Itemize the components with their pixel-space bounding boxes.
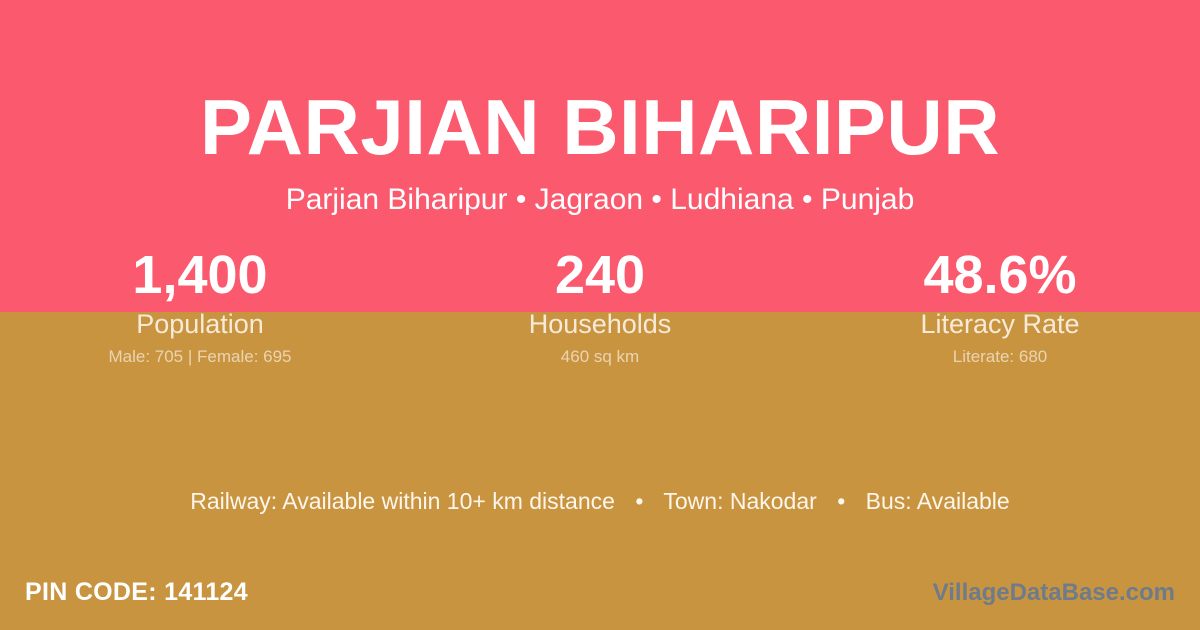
amenity-town: Town: Nakodar [663, 488, 816, 514]
site-brand: VillageDataBase.com [933, 578, 1175, 608]
stats-row: 1,400 Population Male: 705 | Female: 695… [0, 243, 1200, 368]
households-value: 240 [400, 243, 800, 307]
amenity-bus: Bus: Available [866, 488, 1010, 514]
amenity-separator-1: • [621, 488, 657, 514]
card-content-layer: PARJIAN BIHARIPUR Parjian Biharipur • Ja… [0, 0, 1200, 630]
amenity-separator-2: • [823, 488, 859, 514]
literacy-rate-label: Literacy Rate [800, 307, 1200, 341]
stat-households: 240 Households 460 sq km [400, 243, 800, 368]
location-breadcrumb: Parjian Biharipur • Jagraon • Ludhiana •… [0, 181, 1200, 219]
area-value: 460 sq km [400, 346, 800, 368]
households-label: Households [400, 307, 800, 341]
population-breakdown: Male: 705 | Female: 695 [0, 346, 400, 368]
stat-population: 1,400 Population Male: 705 | Female: 695 [0, 243, 400, 368]
pin-code: PIN CODE: 141124 [25, 576, 248, 608]
population-label: Population [0, 307, 400, 341]
amenities-line: Railway: Available within 10+ km distanc… [0, 486, 1200, 516]
stat-literacy-rate: 48.6% Literacy Rate Literate: 680 [800, 243, 1200, 368]
page-title: PARJIAN BIHARIPUR [0, 83, 1200, 171]
literate-count: Literate: 680 [800, 346, 1200, 368]
amenity-railway: Railway: Available within 10+ km distanc… [190, 488, 615, 514]
literacy-rate-value: 48.6% [800, 243, 1200, 307]
population-value: 1,400 [0, 243, 400, 307]
